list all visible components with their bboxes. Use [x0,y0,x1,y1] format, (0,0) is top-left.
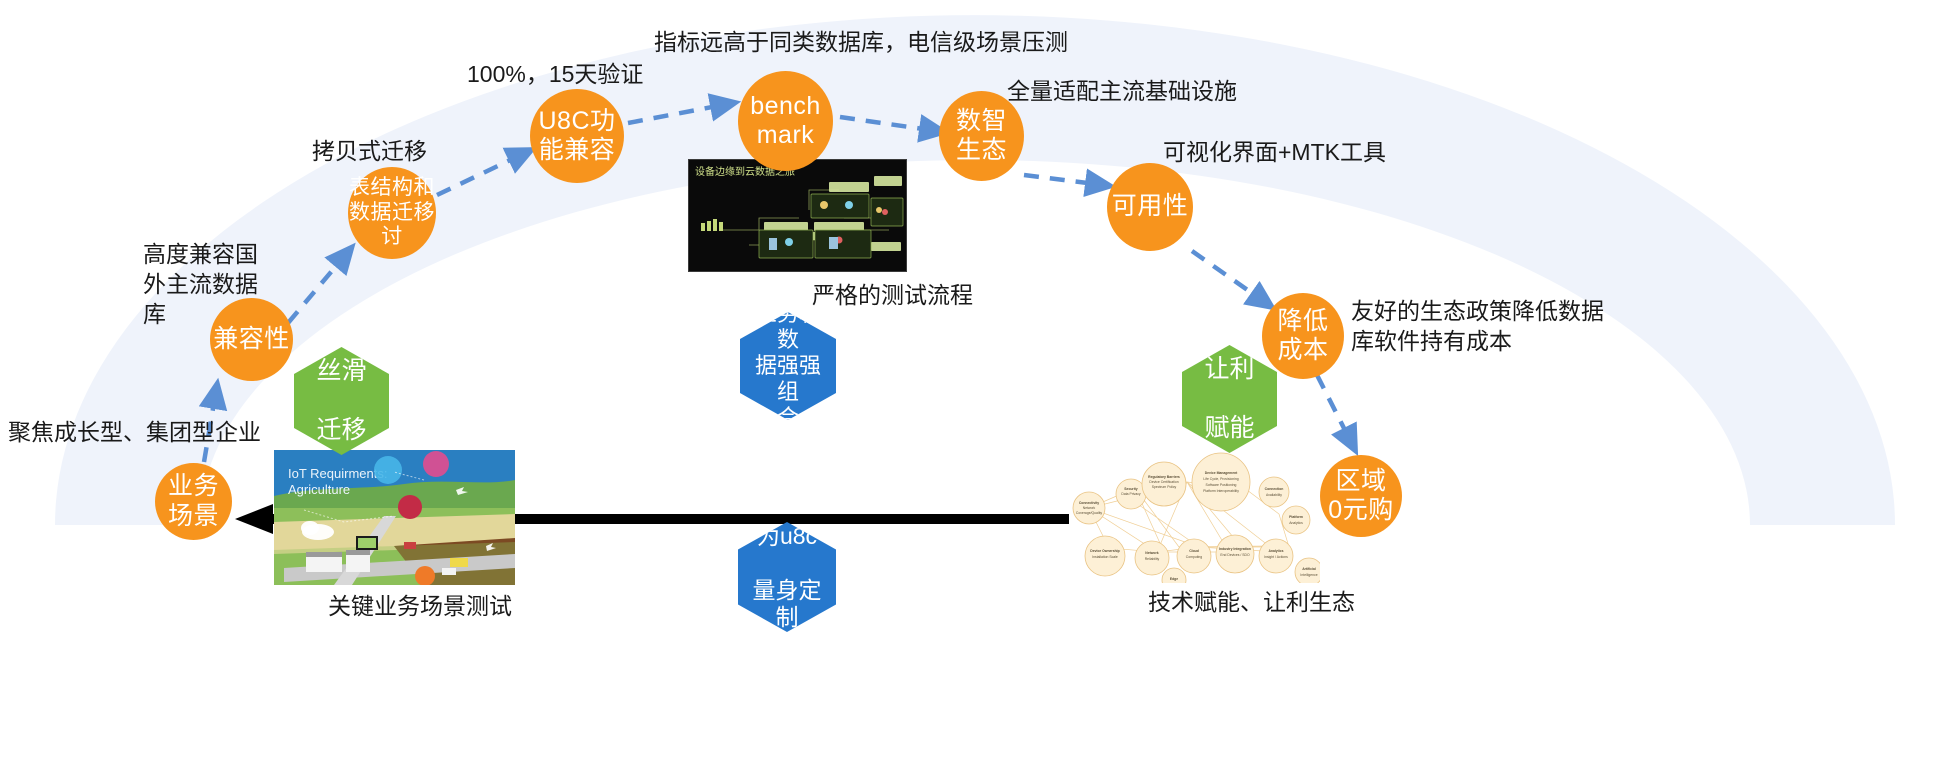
node-lower-cost[interactable]: 降低 成本 [1262,293,1344,379]
svg-text:Industry Integration: Industry Integration [1219,547,1251,551]
svg-text:Artificial: Artificial [1302,567,1316,571]
node-benchmark[interactable]: bench mark [738,71,833,171]
svg-text:Device Certification: Device Certification [1149,480,1178,484]
arrow-compat-to-migration [288,253,347,323]
svg-text:Device Ownership: Device Ownership [1090,549,1119,553]
svg-text:Agriculture: Agriculture [288,482,350,497]
svg-text:Data Privacy: Data Privacy [1121,492,1141,496]
annotation-tech-empower-eco: 技术赋能、让利生态 [1148,588,1408,618]
arrow-benchmark-to-eco [840,117,937,131]
svg-text:Connection: Connection [1265,487,1284,491]
arrow-eco-to-availability [1024,175,1103,185]
svg-text:Installation Scale: Installation Scale [1092,555,1118,559]
node-business-data-combo[interactable]: 业务和数 据强强组 合 [740,312,836,420]
annotation-full-adaptation: 全量适配主流基础设施 [1007,77,1307,107]
node-region-zero-purchase[interactable]: 区域 0元购 [1320,455,1402,537]
svg-text:Software Positioning: Software Positioning [1206,483,1237,487]
annotation-highly-compatible-db: 高度兼容国 外主流数据 库 [143,240,273,330]
arrow-availability-to-cost [1192,251,1266,303]
svg-text:Network: Network [1083,506,1096,510]
annotation-strict-test-process: 严格的测试流程 [812,281,1032,311]
photo-ecosystem-bubble-network: Connectivity Network Coverage/Quality Se… [1069,452,1320,583]
svg-text:Regulatory Barriers: Regulatory Barriers [1148,475,1180,479]
svg-text:Analytics: Analytics [1268,549,1283,553]
photo-iot-requirements-agriculture: IoT Requirments: Agriculture [274,450,515,585]
svg-text:Intelligence: Intelligence [1300,573,1317,577]
svg-text:Spectrum Policy: Spectrum Policy [1152,485,1177,489]
svg-text:Platform: Platform [1289,515,1303,519]
annotation-visual-ui-mtk: 可视化界面+MTK工具 [1163,138,1403,168]
svg-text:Security: Security [1124,487,1137,491]
node-availability[interactable]: 可用性 [1107,163,1193,251]
node-profit-sharing-empowerment[interactable]: 让利 赋能 [1182,345,1277,453]
svg-text:Platform Interoperability: Platform Interoperability [1203,489,1239,493]
arrow-cost-to-region [1317,375,1352,444]
node-smooth-migration[interactable]: 丝滑 迁移 [294,347,389,455]
svg-text:Cloud: Cloud [1189,549,1199,553]
arrow-u8c-to-benchmark [628,104,728,123]
node-u8c-function-compat[interactable]: U8C功 能兼容 [530,89,624,183]
annotation-metrics-far-higher: 指标远高于同类数据库，电信级场景压测 [654,28,1074,58]
node-tailored-for-u8c[interactable]: 为u8c 量身定制 [738,522,836,632]
svg-text:Analytics: Analytics [1289,521,1303,525]
svg-text:Life Cycle, Provisioning: Life Cycle, Provisioning [1203,477,1238,481]
svg-text:Connectivity: Connectivity [1079,501,1099,505]
svg-text:Device Management: Device Management [1205,471,1238,475]
annotation-focus-enterprises: 聚焦成长型、集团型企业 [8,418,268,448]
svg-text:Coverage/Quality: Coverage/Quality [1076,511,1103,515]
svg-text:Reliability: Reliability [1145,557,1160,561]
diagram-canvas: 设备边缘到云数据之旅 [0,0,1945,782]
node-schema-data-migration[interactable]: 表结构和 数据迁移 讨 [348,167,436,259]
annotation-verification-15-days: 100%，15天验证 [467,60,687,90]
svg-text:IoT Requirments:: IoT Requirments: [288,466,387,481]
svg-text:Edge: Edge [1170,577,1178,581]
svg-text:Insight / Actions: Insight / Actions [1264,555,1288,559]
annotation-key-business-test: 关键业务场景测试 [328,592,548,622]
annotation-copy-style-migration: 拷贝式迁移 [312,137,472,167]
annotation-friendly-eco-policy: 友好的生态政策降低数据 库软件持有成本 [1351,297,1651,357]
svg-text:End Devices / SDO: End Devices / SDO [1220,553,1250,557]
svg-text:Computing: Computing [1186,555,1203,559]
photo-edge-to-cloud-data-journey: 设备边缘到云数据之旅 [688,159,907,272]
svg-text:Network: Network [1145,551,1158,555]
svg-text:Availability: Availability [1266,493,1282,497]
node-business-scenario[interactable]: 业务 场景 [155,463,232,540]
